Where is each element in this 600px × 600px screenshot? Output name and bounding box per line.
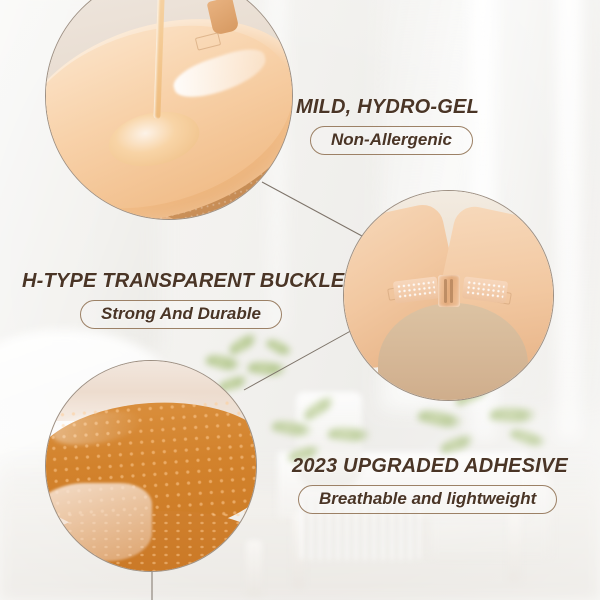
gel-pour-photo xyxy=(45,0,293,220)
adhesive-protective-film xyxy=(45,483,152,561)
h-type-clasp xyxy=(438,275,460,307)
feature-subtitle-buckle: Strong And Durable xyxy=(80,300,282,329)
feature-text-gel: MILD, HYDRO-GEL Non-Allergenic xyxy=(296,96,479,155)
feature-subtitle-gel: Non-Allergenic xyxy=(310,126,473,155)
feature-text-adhesive: 2023 UPGRADED ADHESIVE Breathable and li… xyxy=(292,455,568,514)
product-infographic: MILD, HYDRO-GEL Non-Allergenic H-TYPE TR… xyxy=(0,0,600,600)
feature-headline-adhesive: 2023 UPGRADED ADHESIVE xyxy=(292,455,568,478)
feature-headline-buckle: H-TYPE TRANSPARENT BUCKLE xyxy=(22,270,344,293)
connector-buckle-to-adhesive xyxy=(244,328,356,390)
adhesive-photo xyxy=(45,360,257,572)
feature-text-buckle: H-TYPE TRANSPARENT BUCKLE Strong And Dur… xyxy=(22,270,344,329)
buckle-photo xyxy=(343,190,554,401)
feature-headline-gel: MILD, HYDRO-GEL xyxy=(296,96,479,119)
feature-subtitle-adhesive: Breathable and lightweight xyxy=(298,485,557,514)
